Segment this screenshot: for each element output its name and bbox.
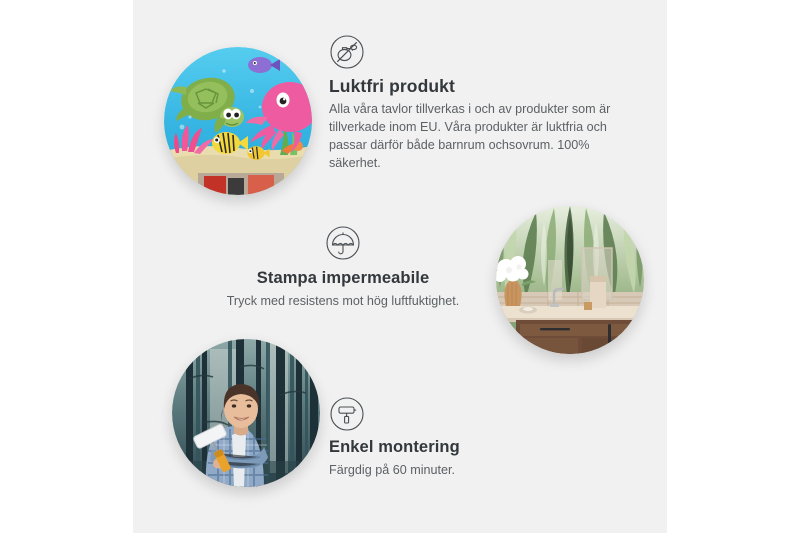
feature-image-enkel-montering bbox=[172, 339, 320, 487]
feature-title: Enkel montering bbox=[329, 438, 609, 457]
umbrella-icon bbox=[325, 225, 361, 261]
painter-woman-forest-photo bbox=[172, 339, 320, 487]
infographic-page: Luktfri produkt Alla våra tavlor tillver… bbox=[0, 0, 800, 533]
feature-title: Stampa impermeabile bbox=[193, 269, 493, 288]
feature-image-luktfri-produkt bbox=[164, 47, 312, 195]
feature-title: Luktfri produkt bbox=[329, 76, 619, 96]
no-fragrance-icon bbox=[329, 34, 365, 70]
feature-text-enkel-montering: Enkel montering Färgdig på 60 minuter. bbox=[329, 396, 609, 480]
feature-text-luktfri-produkt: Luktfri produkt Alla våra tavlor tillver… bbox=[329, 34, 619, 173]
feature-text-stampa-impermeabile: Stampa impermeabile Tryck med resistens … bbox=[193, 225, 493, 311]
paint-roller-icon bbox=[329, 396, 365, 432]
feature-image-stampa-impermeabile bbox=[496, 206, 644, 354]
bathroom-wallpaper-photo bbox=[496, 206, 644, 354]
feature-body: Färgdig på 60 minuter. bbox=[329, 462, 609, 480]
underwater-scene-illustration bbox=[164, 47, 312, 195]
feature-body: Alla våra tavlor tillverkas i och av pro… bbox=[329, 101, 619, 173]
infographic-panel: Luktfri produkt Alla våra tavlor tillver… bbox=[133, 0, 667, 533]
feature-body: Tryck med resistens mot hög luftfuktighe… bbox=[193, 293, 493, 311]
